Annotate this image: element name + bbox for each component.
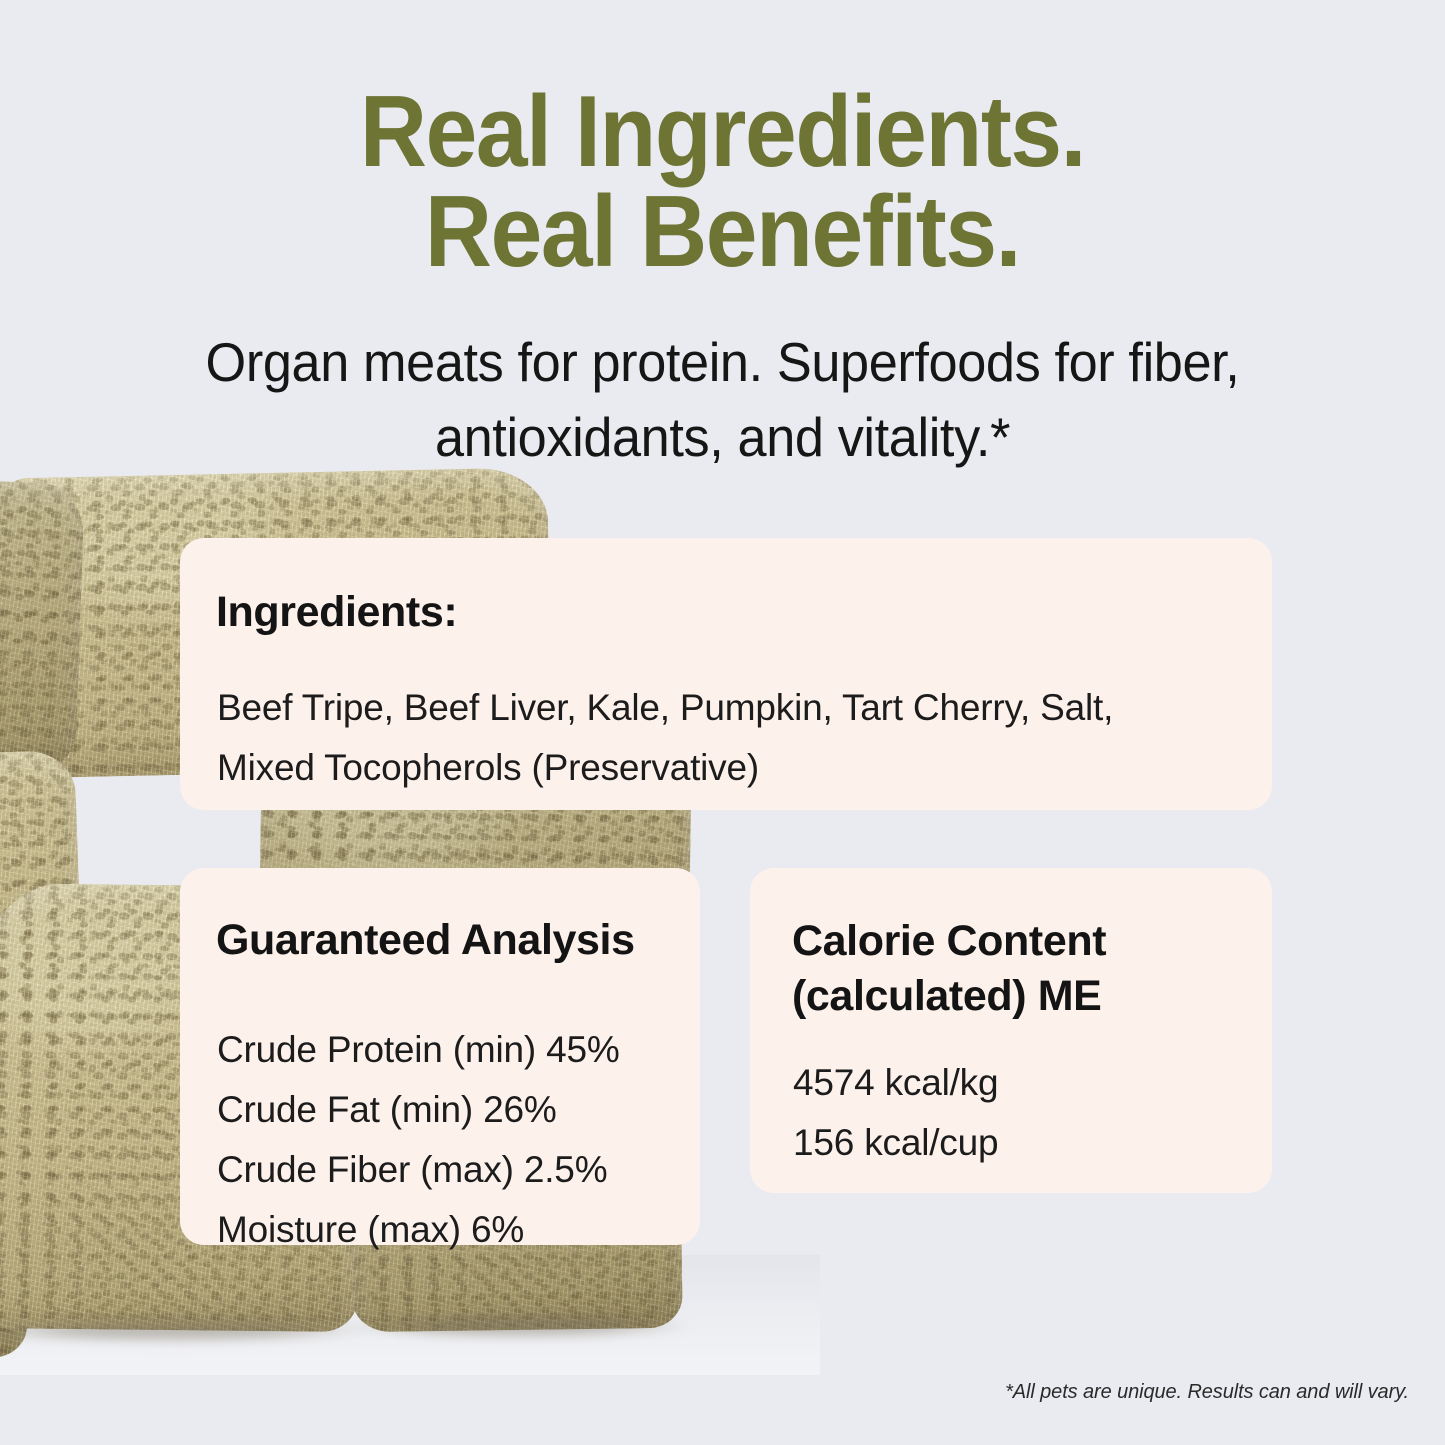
calorie-content-title: Calorie Content (calculated) ME [792,914,1232,1024]
calorie-row: 4574 kcal/kg [793,1053,1233,1113]
food-nugget [0,474,85,774]
calorie-content-list: 4574 kcal/kg 156 kcal/cup [793,1053,1233,1173]
ingredients-title: Ingredients: [216,588,457,637]
marketing-infographic: Real Ingredients. Real Benefits. Organ m… [0,0,1445,1445]
calorie-row: 156 kcal/cup [793,1113,1233,1173]
photo-shadow [350,1313,690,1339]
ingredients-card: Ingredients: Beef Tripe, Beef Liver, Kal… [180,538,1272,810]
ingredients-list: Beef Tripe, Beef Liver, Kale, Pumpkin, T… [217,678,1227,798]
guaranteed-analysis-list: Crude Protein (min) 45% Crude Fat (min) … [217,1020,687,1260]
analysis-row: Crude Protein (min) 45% [217,1020,687,1080]
disclaimer-footnote: *All pets are unique. Results can and wi… [0,1381,1409,1404]
page-headline: Real Ingredients. Real Benefits. [58,82,1387,282]
guaranteed-analysis-card: Guaranteed Analysis Crude Protein (min) … [180,868,700,1245]
analysis-row: Crude Fat (min) 26% [217,1080,687,1140]
guaranteed-analysis-title: Guaranteed Analysis [216,916,635,965]
page-subheadline: Organ meats for protein. Superfoods for … [203,325,1241,475]
analysis-row: Moisture (max) 6% [217,1200,687,1260]
ingredients-line: Beef Tripe, Beef Liver, Kale, Pumpkin, T… [217,678,1227,738]
ingredients-line: Mixed Tocopherols (Preservative) [217,738,1227,798]
calorie-content-card: Calorie Content (calculated) ME 4574 kca… [750,868,1272,1193]
analysis-row: Crude Fiber (max) 2.5% [217,1140,687,1200]
